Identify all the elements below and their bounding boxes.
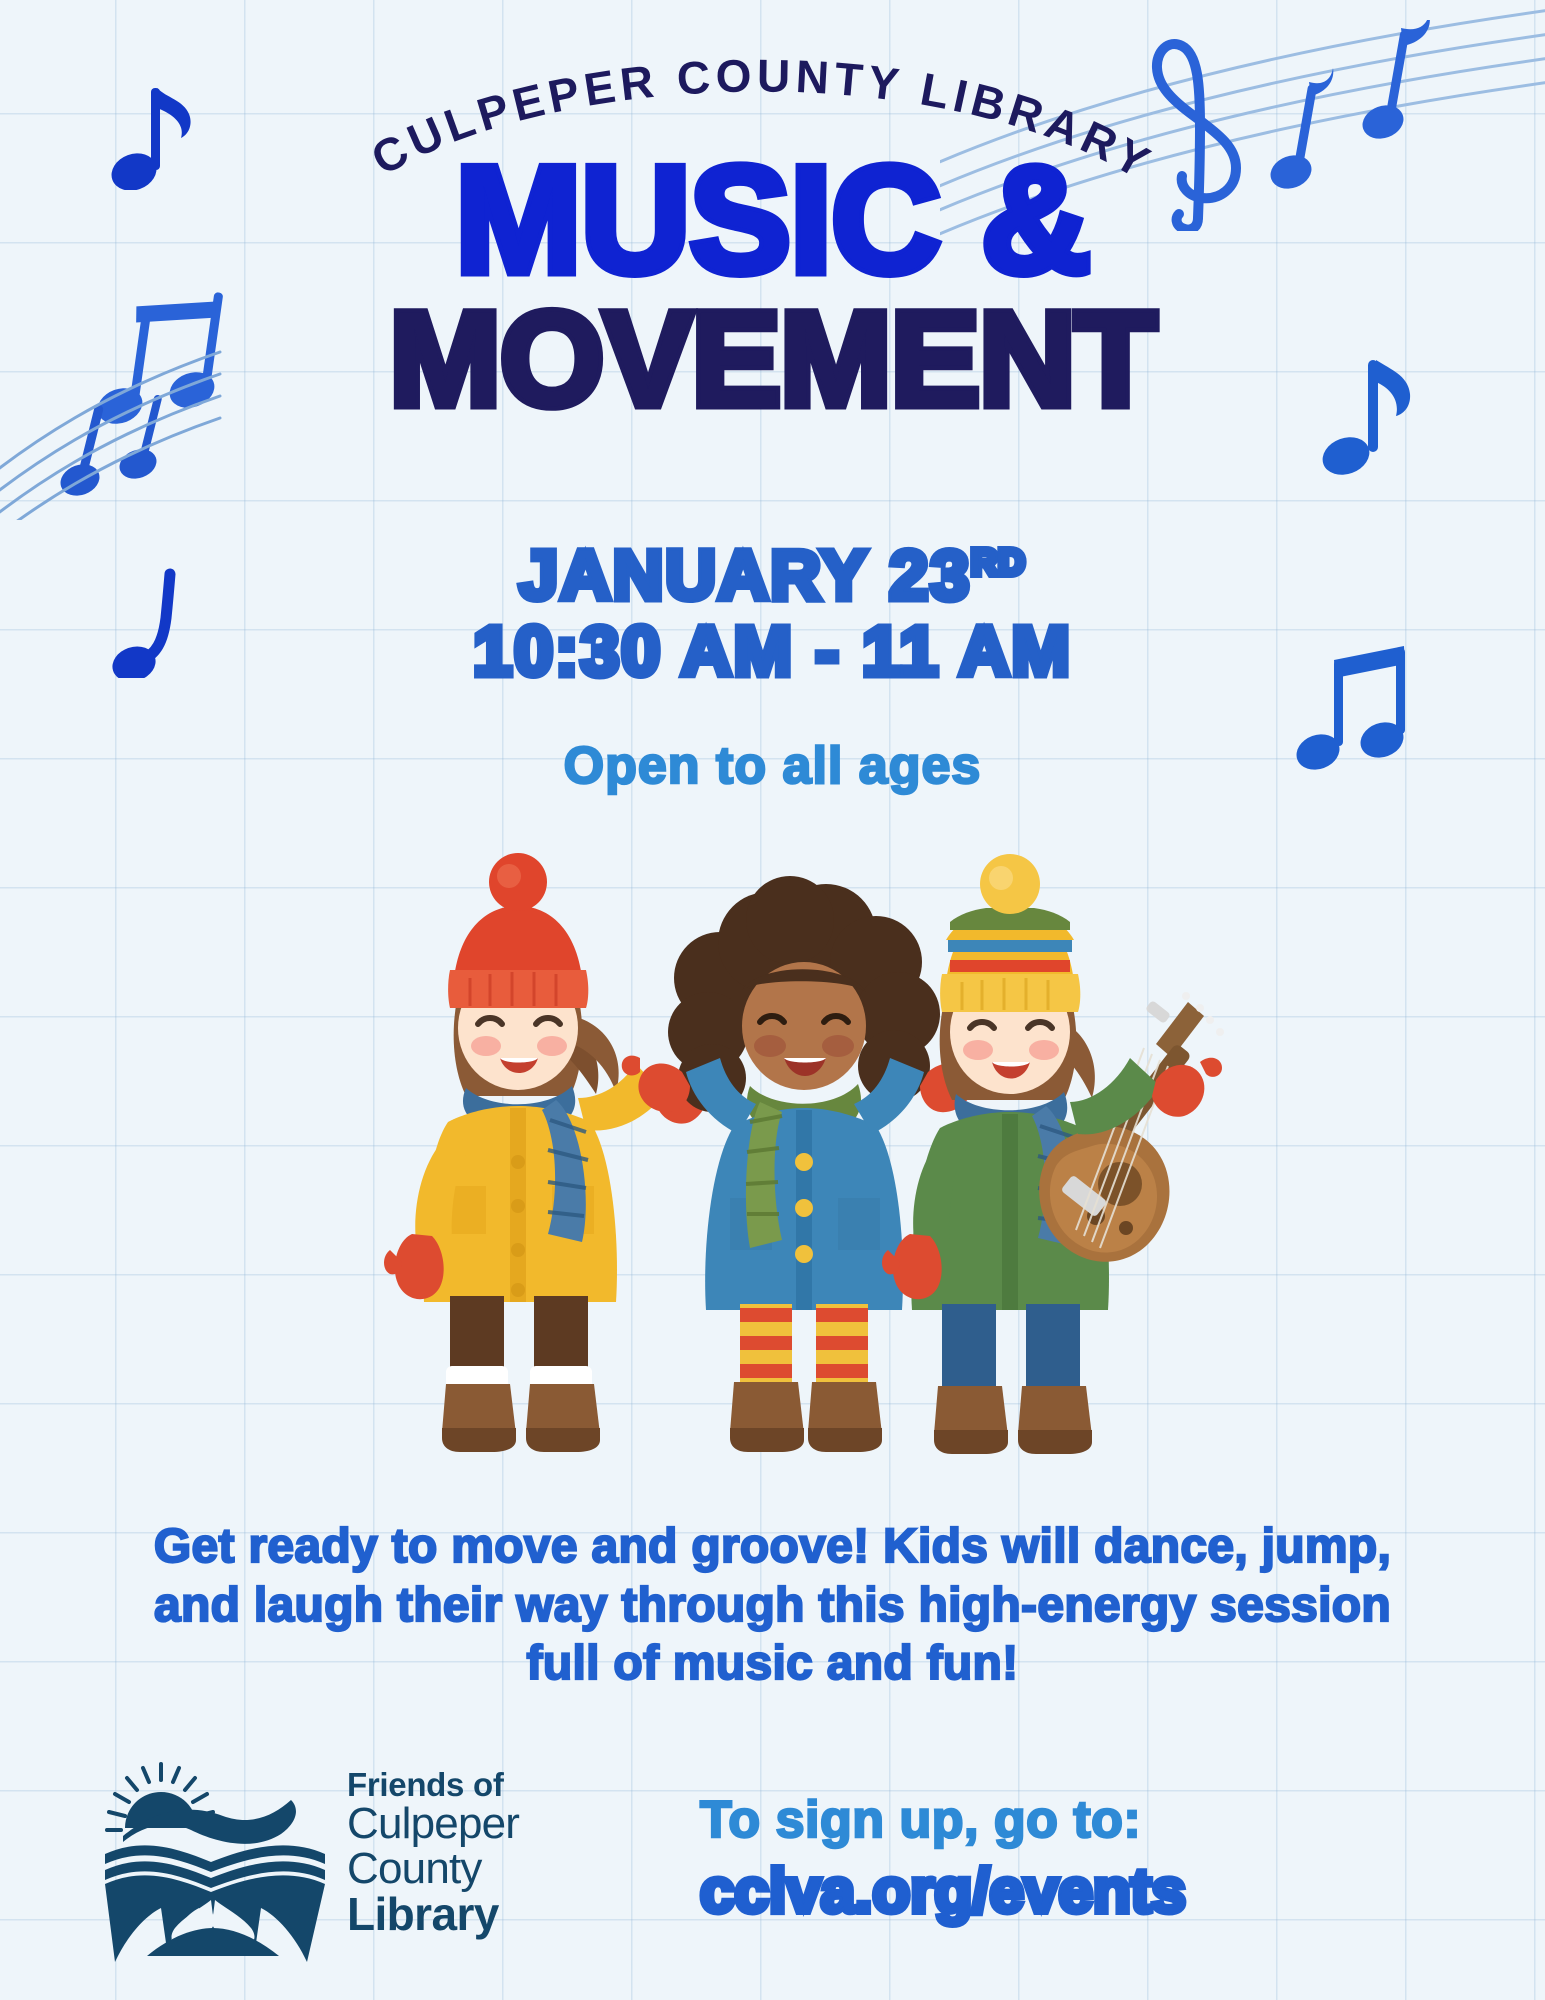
friends-library-logo-icon: [95, 1750, 335, 1965]
event-date-suffix: RD: [971, 542, 1026, 583]
child-left: [384, 853, 724, 1452]
description-line-1: Get ready to move and groove! Kids will …: [70, 1518, 1475, 1577]
poster-canvas: CULPEPER COUNTY LIBRARY MUSIC & MOVEMENT…: [0, 0, 1545, 2000]
logo-line-friends-of: Friends of: [347, 1768, 519, 1802]
signup-block: To sign up, go to: cclva.org/events: [700, 1790, 1500, 1927]
description-line-2: and laugh their way through this high-en…: [70, 1577, 1475, 1636]
child-right: [882, 854, 1224, 1454]
event-date-text: JANUARY 23: [519, 536, 971, 614]
event-datetime: JANUARY 23RD 10:30 AM - 11 AM: [0, 540, 1545, 693]
description-line-3: full of music and fun!: [70, 1635, 1475, 1694]
event-description: Get ready to move and groove! Kids will …: [70, 1518, 1475, 1694]
signup-prompt: To sign up, go to:: [700, 1790, 1500, 1850]
logo-wordmark: Friends of Culpeper County Library: [347, 1768, 519, 1938]
age-note: Open to all ages: [0, 736, 1545, 796]
event-date: JANUARY 23RD: [0, 540, 1545, 610]
logo-line-county: County: [347, 1847, 519, 1892]
logo-line-library: Library: [347, 1891, 519, 1938]
title-line-movement: MOVEMENT: [0, 295, 1545, 425]
logo-line-culpeper: Culpeper: [347, 1802, 519, 1847]
signup-url[interactable]: cclva.org/events: [700, 1856, 1500, 1927]
children-illustration: [320, 810, 1240, 1470]
event-time: 10:30 AM - 11 AM: [0, 610, 1545, 693]
title-line-music: MUSIC &: [0, 150, 1545, 291]
page-title: MUSIC & MOVEMENT: [0, 150, 1545, 425]
